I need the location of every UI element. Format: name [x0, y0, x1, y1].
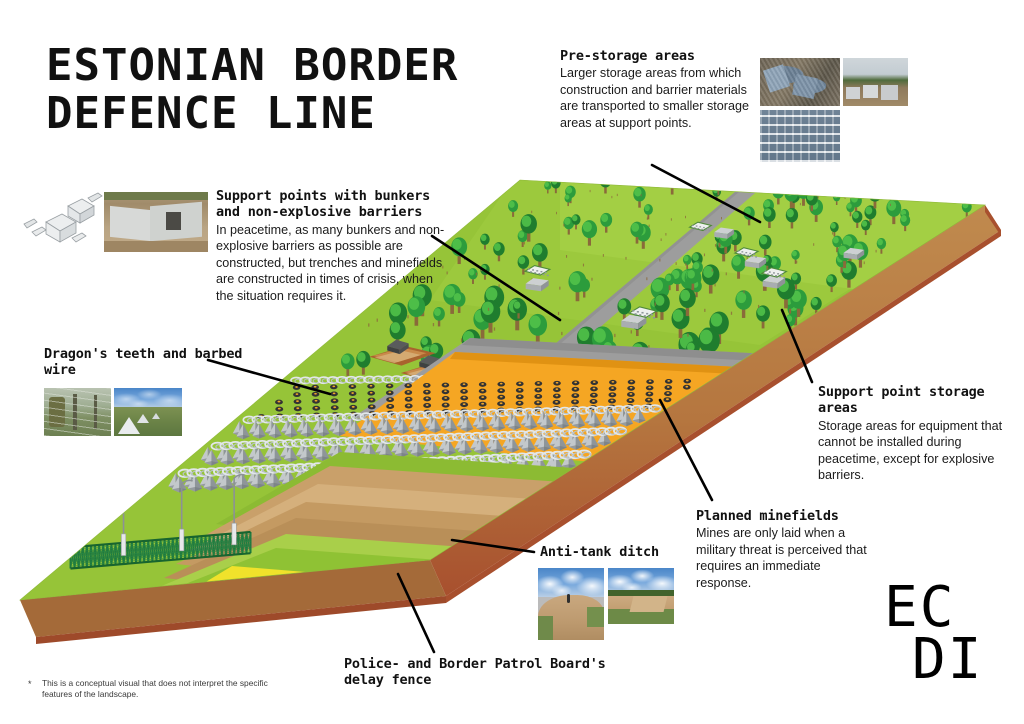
annotation-body: Storage areas for equipment that cannot …: [818, 418, 1014, 484]
footnote: * This is a conceptual visual that does …: [28, 678, 278, 701]
footnote-text: This is a conceptual visual that does no…: [42, 678, 278, 701]
annotation-heading: Dragon's teeth and barbed wire: [44, 346, 244, 379]
annotation-heading: Planned minefields: [696, 508, 876, 524]
soldier-barbed-wire-photo: [44, 388, 111, 436]
concrete-bunker-photo: [104, 192, 208, 252]
anti-tank-ditch-photo-2: [608, 568, 674, 624]
annotation-anti-tank-ditch: Anti-tank ditch: [540, 544, 730, 560]
aerial-storage-blocks-photo: [760, 58, 840, 106]
infographic-canvas: ESTONIAN BORDER DEFENCE LINE Pre-storage…: [0, 0, 1024, 724]
bunker-exploded-diagram: [16, 192, 104, 254]
page-title: ESTONIAN BORDER DEFENCE LINE: [46, 42, 458, 137]
footnote-marker: *: [28, 678, 32, 690]
concrete-block-stack-photo: [843, 58, 908, 106]
logo-line-2: DI: [912, 634, 983, 686]
annotation-heading: Support points with bunkers and non-expl…: [216, 188, 452, 221]
dragons-teeth-field-photo: [760, 110, 840, 162]
annotation-support-point-storage-areas: Support point storage areas Storage area…: [818, 384, 1014, 484]
annotation-heading: Anti-tank ditch: [540, 544, 730, 560]
annotation-support-points-with-bunkers: Support points with bunkers and non-expl…: [216, 188, 452, 304]
dragons-teeth-landscape-photo: [114, 388, 182, 436]
annotation-body: Larger storage areas from which construc…: [560, 65, 760, 131]
anti-tank-ditch-photo-1: [538, 568, 604, 640]
ecdi-logo: EC DI: [884, 582, 983, 685]
annotation-heading: Pre-storage areas: [560, 48, 760, 64]
annotation-pre-storage-areas: Pre-storage areas Larger storage areas f…: [560, 48, 760, 131]
annotation-body: In peacetime, as many bunkers and non-ex…: [216, 222, 452, 304]
annotation-dragons-teeth-and-barbed-wire: Dragon's teeth and barbed wire: [44, 346, 244, 379]
annotation-police-border-patrol-delay-fence: Police- and Border Patrol Board's delay …: [344, 656, 634, 689]
annotation-heading: Support point storage areas: [818, 384, 1014, 417]
annotation-heading: Police- and Border Patrol Board's delay …: [344, 656, 634, 689]
